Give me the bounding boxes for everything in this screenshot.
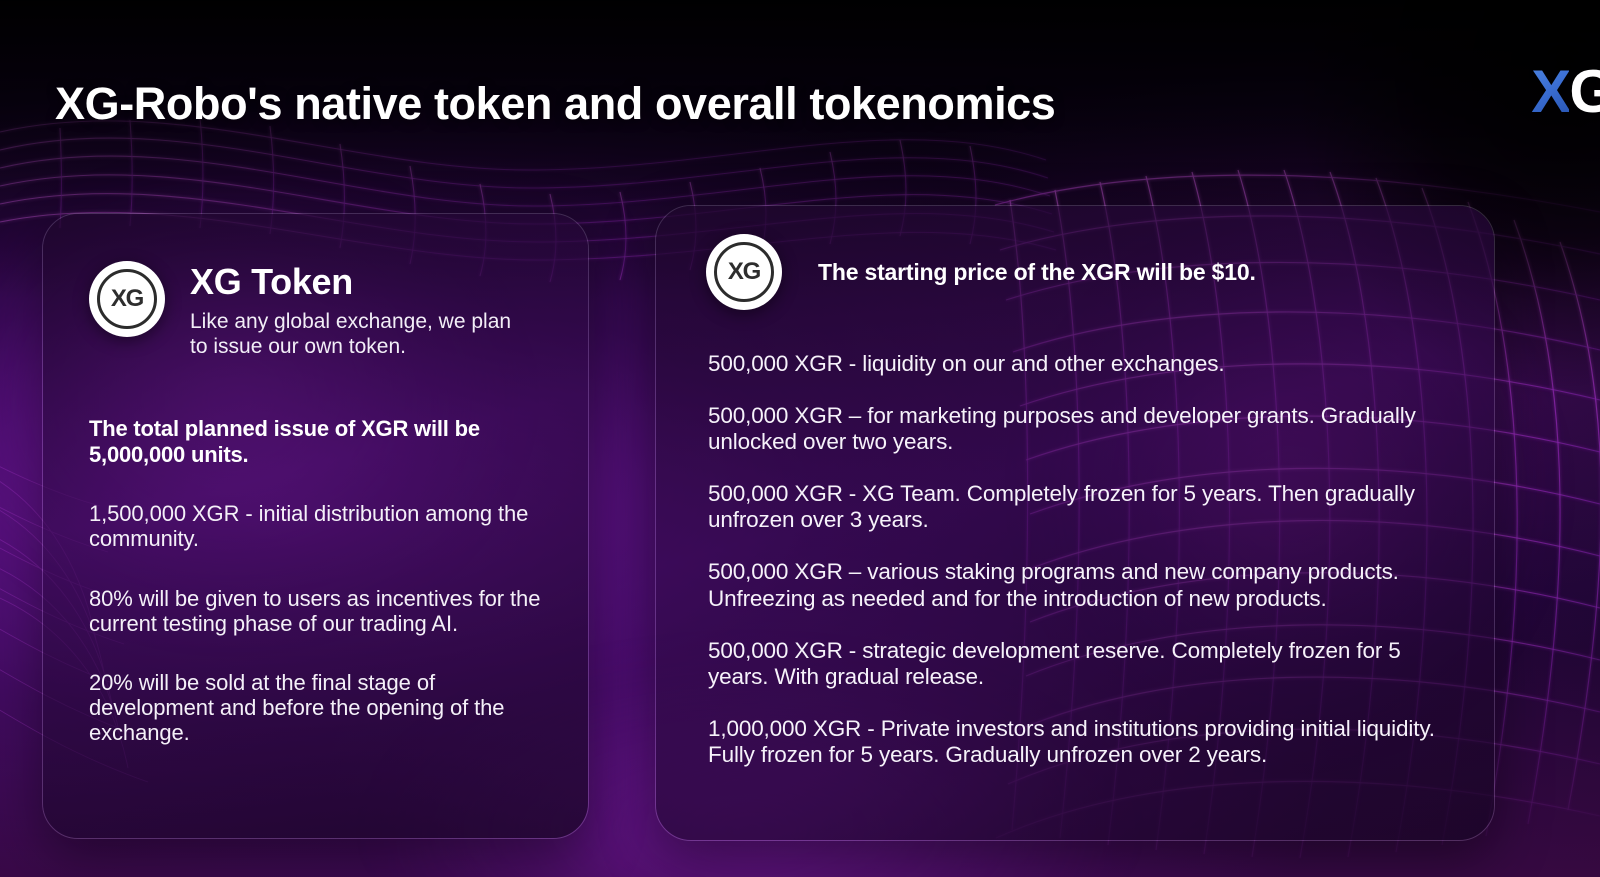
right-card-header: XG The starting price of the XGR will be… — [656, 206, 1494, 310]
page-title: XG-Robo's native token and overall token… — [55, 78, 1055, 130]
logo-letter-g: G — [1569, 58, 1600, 125]
logo-letter-x: X — [1531, 58, 1569, 125]
left-card-paragraph: 80% will be given to users as incentives… — [89, 586, 546, 636]
left-card-paragraph: 20% will be sold at the final stage of d… — [89, 670, 546, 745]
allocation-item: 500,000 XGR - strategic development rese… — [708, 638, 1448, 690]
allocation-item: 1,000,000 XGR - Private investors and in… — [708, 716, 1448, 768]
allocation-item: 500,000 XGR – various staking programs a… — [708, 559, 1448, 611]
xg-coin-icon: XG — [89, 261, 165, 337]
xg-coin-icon: XG — [706, 234, 782, 310]
left-card-heading: XG Token — [190, 263, 520, 301]
tokenomics-allocation-card: XG The starting price of the XGR will be… — [655, 205, 1495, 841]
left-card-subheading: Like any global exchange, we plan to iss… — [190, 310, 520, 359]
left-card-body: The total planned issue of XGR will be 5… — [43, 416, 588, 745]
slide-root: XG-Robo's native token and overall token… — [0, 0, 1600, 877]
left-card-lead: The total planned issue of XGR will be 5… — [89, 416, 546, 467]
xg-coin-label: XG — [728, 258, 760, 286]
left-card-paragraph: 1,500,000 XGR - initial distribution amo… — [89, 501, 546, 551]
allocation-item: 500,000 XGR - XG Team. Completely frozen… — [708, 481, 1448, 533]
left-card-header: XG XG Token Like any global exchange, we… — [43, 214, 588, 359]
allocation-item: 500,000 XGR – for marketing purposes and… — [708, 403, 1448, 455]
allocation-list: 500,000 XGR - liquidity on our and other… — [656, 351, 1494, 768]
xg-token-card: XG XG Token Like any global exchange, we… — [42, 213, 589, 839]
xg-brand-logo: XG — [1531, 62, 1600, 122]
allocation-item: 500,000 XGR - liquidity on our and other… — [708, 351, 1448, 377]
xg-coin-label: XG — [111, 285, 143, 313]
right-card-heading: The starting price of the XGR will be $1… — [818, 259, 1256, 286]
